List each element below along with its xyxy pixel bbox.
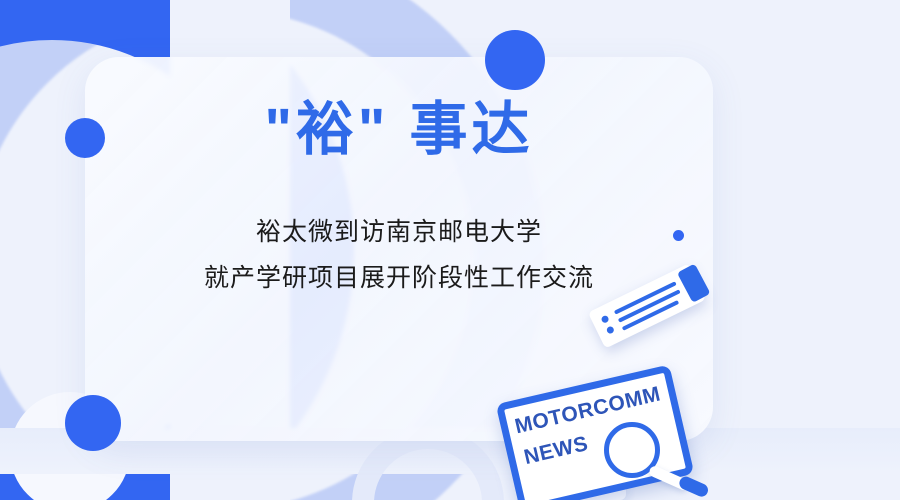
blue-dot-top bbox=[485, 30, 545, 90]
blue-dot-small-right bbox=[673, 230, 684, 241]
page-title: "裕" 事达 bbox=[85, 101, 713, 159]
subtitle-block: 裕太微到访南京邮电大学 就产学研项目展开阶段性工作交流 bbox=[85, 209, 713, 301]
blue-dot-left bbox=[65, 118, 105, 158]
blue-dot-bottom-left bbox=[65, 395, 121, 451]
news-poster: "裕" 事达 裕太微到访南京邮电大学 就产学研项目展开阶段性工作交流 MOTOR… bbox=[0, 0, 900, 500]
subtitle-line-2: 就产学研项目展开阶段性工作交流 bbox=[85, 255, 713, 301]
subtitle-line-1: 裕太微到访南京邮电大学 bbox=[85, 209, 713, 255]
magnifier-icon bbox=[604, 422, 660, 478]
